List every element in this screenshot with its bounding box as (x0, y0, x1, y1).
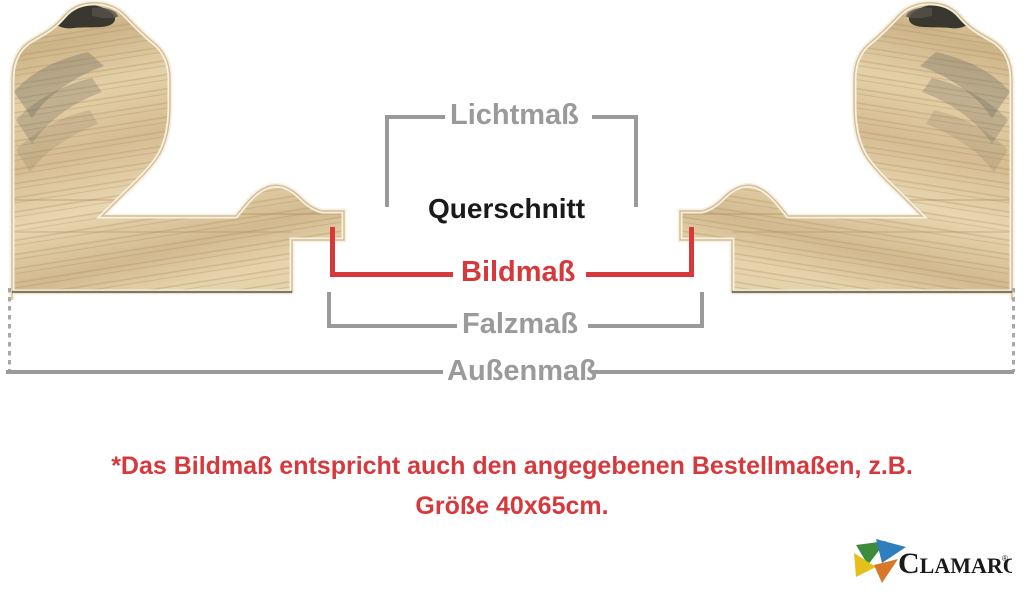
falzmass-line-left (327, 324, 457, 328)
bildmass-label: Bildmaß (461, 258, 575, 287)
bildmass-line-left (330, 272, 453, 277)
lichtmass-line-right (592, 115, 638, 119)
lichtmass-line-left (385, 115, 445, 119)
footnote: *Das Bildmaß entspricht auch den angegeb… (0, 446, 1024, 526)
bildmass-line-right (586, 272, 694, 277)
clamaro-logo: CLAMARO ® (852, 529, 1012, 587)
clamaro-wordmark: CLAMARO (898, 547, 1012, 580)
page-title: Querschnitt (428, 195, 585, 223)
falzmass-line-right (588, 324, 704, 328)
bildmass-tick-right (689, 227, 694, 277)
falzmass-label: Falzmaß (462, 310, 578, 339)
falzmass-tick-right (700, 292, 704, 328)
aussenmass-tick-left (8, 288, 11, 372)
lichtmass-tick-left (385, 115, 389, 207)
aussenmass-tick-right (1012, 288, 1015, 372)
aussenmass-line-left (6, 370, 443, 374)
frame-measurement-diagram: Lichtmaß Querschnitt Bildmaß Falzmaß Auß… (0, 0, 1024, 597)
falzmass-tick-left (327, 292, 331, 328)
aussenmass-label: Außenmaß (447, 357, 597, 386)
footnote-line-1: *Das Bildmaß entspricht auch den angegeb… (0, 446, 1024, 486)
footnote-line-2: Größe 40x65cm. (0, 486, 1024, 526)
lichtmass-label: Lichtmaß (450, 101, 579, 130)
registered-trademark-icon: ® (1002, 554, 1008, 563)
lichtmass-tick-right (634, 115, 638, 207)
bildmass-tick-left (330, 227, 335, 277)
aussenmass-line-right (592, 370, 1014, 374)
